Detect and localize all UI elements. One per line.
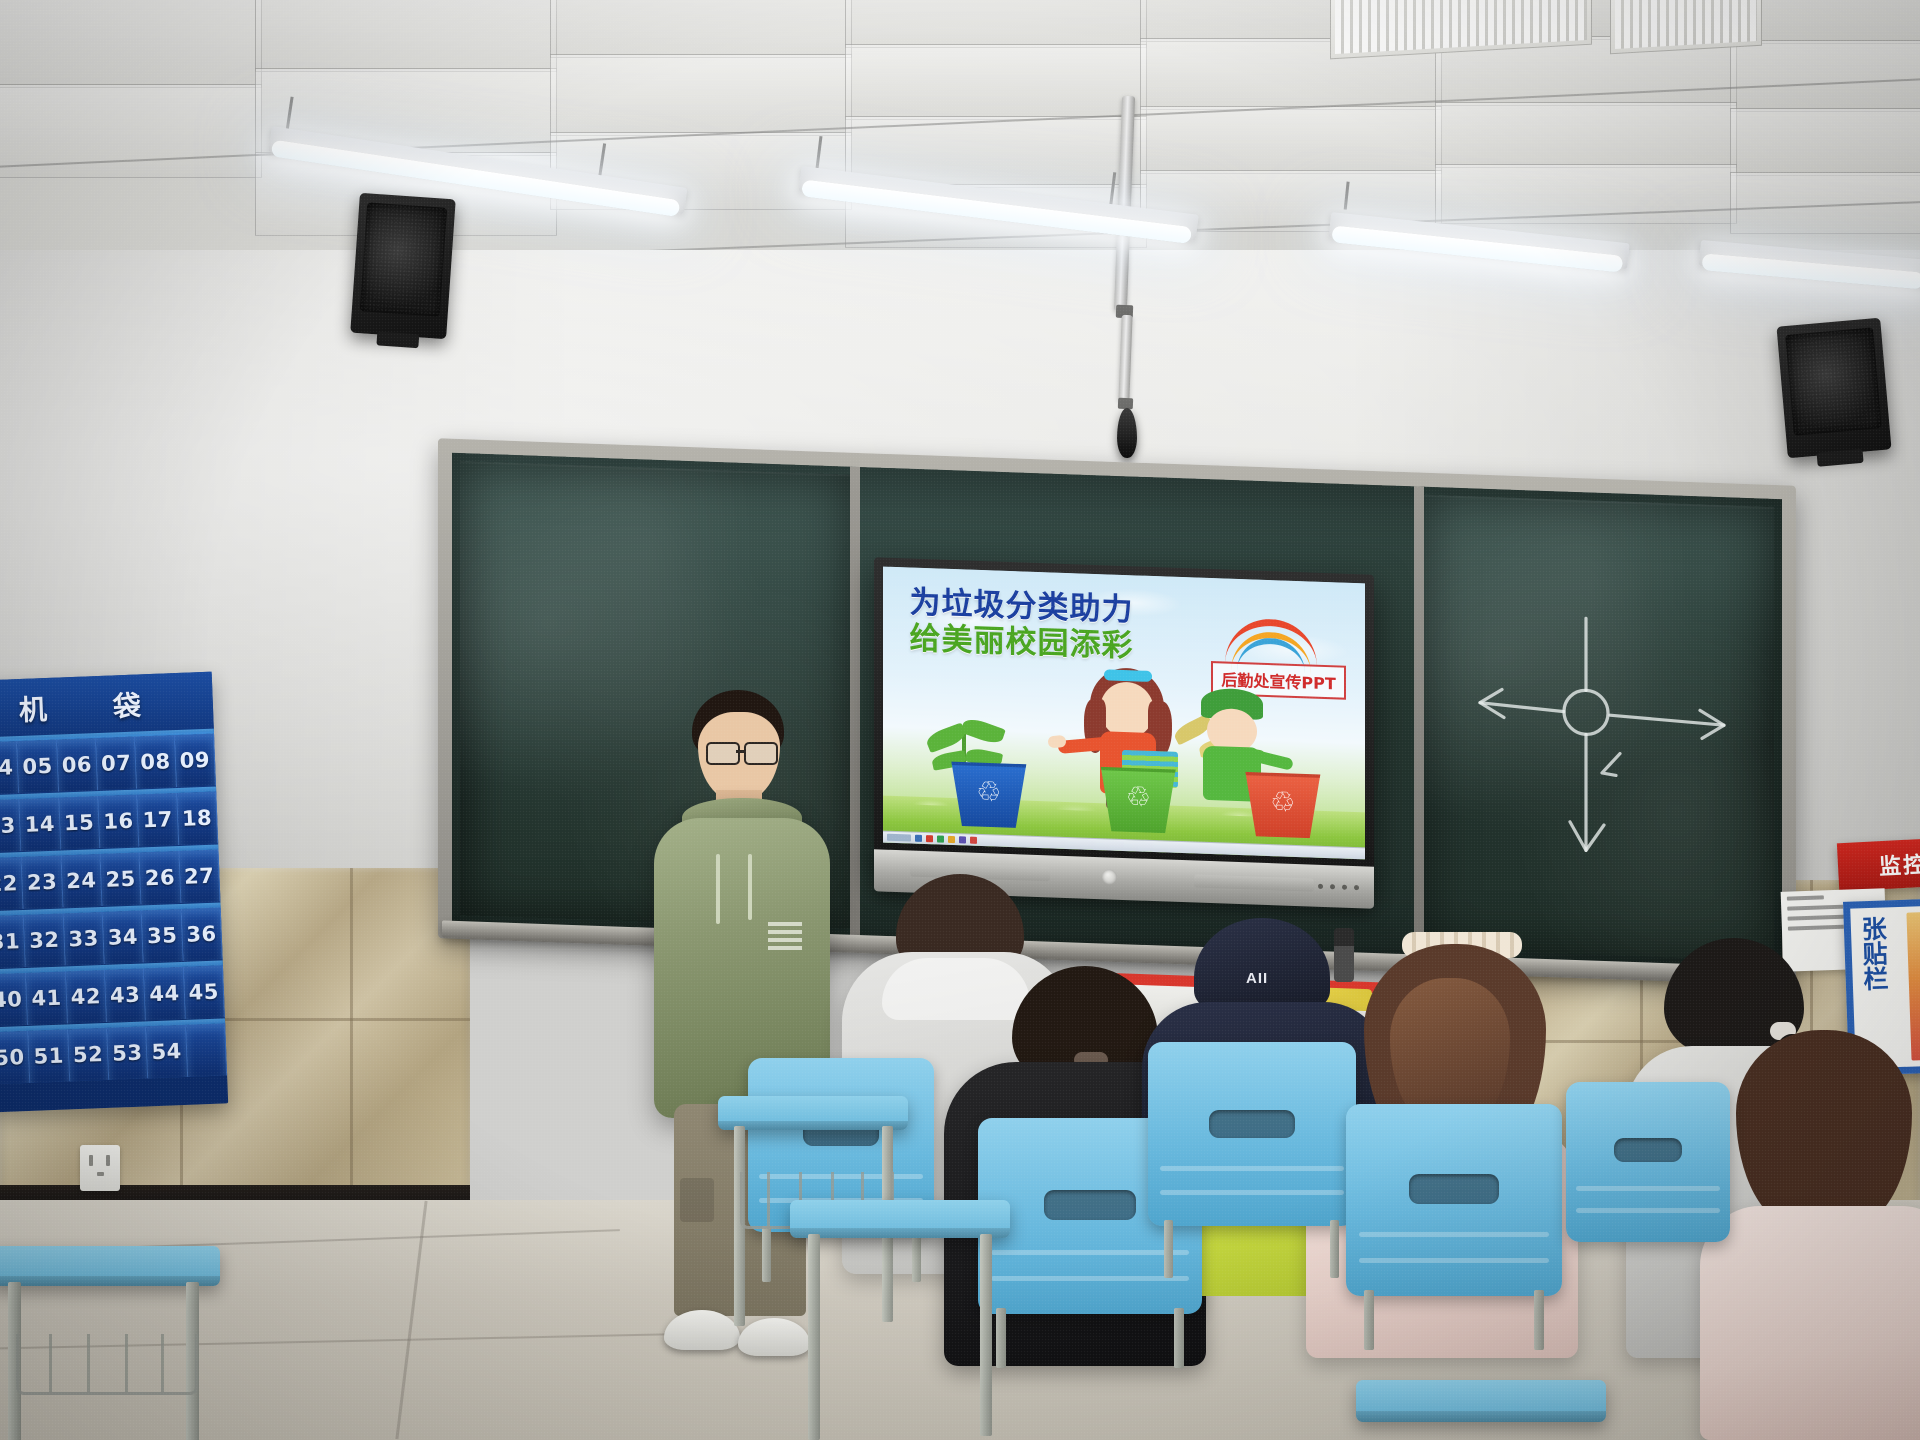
taskbar-icon-5[interactable] bbox=[959, 836, 966, 843]
phone-pocket[interactable]: 05 bbox=[17, 740, 58, 793]
phone-pocket[interactable]: 54 bbox=[147, 1025, 188, 1078]
desk-foreground-right[interactable] bbox=[1356, 1380, 1606, 1440]
pocket-number: 17 bbox=[142, 807, 173, 832]
surveillance-banner-text: 监控 bbox=[1878, 847, 1920, 881]
phone-pocket[interactable]: 52 bbox=[68, 1028, 109, 1081]
phone-pocket-chart: 机 袋 040506070809131415161718222324252627… bbox=[0, 672, 228, 1113]
pocket-number: 04 bbox=[0, 755, 14, 780]
phone-pocket[interactable]: 45 bbox=[184, 965, 225, 1018]
pocket-row: 131415161718 bbox=[0, 792, 218, 853]
desk-foreground-left[interactable] bbox=[0, 1246, 220, 1440]
pocket-number: 08 bbox=[140, 749, 171, 774]
pocket-number: 41 bbox=[31, 986, 62, 1011]
slide-content: 为垃圾分类助力 给美丽校园添彩 后勤处宣传PPT bbox=[883, 567, 1365, 860]
pocket-number: 13 bbox=[0, 813, 16, 838]
pocket-number: 25 bbox=[105, 867, 136, 892]
slide-title-line2: 给美丽校园添彩 bbox=[910, 621, 1134, 665]
pocket-number: 50 bbox=[0, 1045, 25, 1070]
phone-pocket[interactable]: 09 bbox=[175, 734, 216, 787]
pocket-number: 35 bbox=[147, 923, 178, 948]
phone-pocket[interactable]: 26 bbox=[140, 851, 181, 904]
phone-pocket[interactable]: 33 bbox=[63, 912, 104, 965]
recycle-symbol-blue: ♲ bbox=[976, 778, 1001, 807]
phone-pocket[interactable]: 43 bbox=[105, 968, 146, 1021]
phone-pocket[interactable]: 35 bbox=[142, 909, 183, 962]
pants-pocket bbox=[680, 1178, 714, 1222]
phone-pocket[interactable]: 32 bbox=[24, 913, 65, 966]
student-hair bbox=[1736, 1030, 1912, 1228]
pocket-number: 43 bbox=[110, 983, 141, 1008]
interactive-whiteboard[interactable]: 为垃圾分类助力 给美丽校园添彩 后勤处宣传PPT bbox=[874, 557, 1374, 886]
pocket-number: 26 bbox=[144, 865, 175, 890]
taskbar-start-button[interactable] bbox=[887, 834, 911, 842]
pocket-number: 23 bbox=[27, 870, 58, 895]
pocket-row: 040506070809 bbox=[0, 734, 216, 795]
recycle-symbol-red: ♲ bbox=[1270, 788, 1295, 817]
pocket-chart-header-left: 机 bbox=[18, 688, 48, 729]
taskbar-icon-4[interactable] bbox=[948, 836, 955, 843]
pocket-number: 05 bbox=[22, 754, 53, 779]
chalk-diagram bbox=[1424, 495, 1774, 961]
pocket-number: 45 bbox=[188, 980, 219, 1005]
ceiling-skylight-2 bbox=[1610, 0, 1762, 54]
phone-pocket[interactable]: 14 bbox=[20, 798, 61, 851]
chair-3[interactable] bbox=[1346, 1104, 1562, 1354]
phone-pocket[interactable]: 44 bbox=[144, 967, 185, 1020]
phone-pocket[interactable]: 50 bbox=[0, 1031, 31, 1084]
student-pink-jacket-right bbox=[1700, 1030, 1920, 1440]
phone-pocket[interactable]: 23 bbox=[22, 856, 63, 909]
phone-pocket[interactable]: 22 bbox=[0, 857, 24, 910]
wall-speaker-right bbox=[1776, 318, 1891, 459]
phone-pocket[interactable]: 08 bbox=[135, 735, 176, 788]
phone-pocket[interactable]: 15 bbox=[59, 796, 100, 849]
chair-5[interactable] bbox=[1566, 1082, 1730, 1292]
phone-pocket[interactable]: 51 bbox=[29, 1029, 70, 1082]
phone-pocket[interactable]: 16 bbox=[98, 795, 139, 848]
hoodie-drawstring-left bbox=[716, 854, 720, 924]
phone-pocket[interactable]: 06 bbox=[57, 738, 98, 791]
hoodie-logo bbox=[768, 922, 802, 950]
pocket-number: 31 bbox=[0, 929, 21, 954]
slide-title: 为垃圾分类助力 给美丽校园添彩 bbox=[910, 584, 1134, 665]
phone-pocket[interactable]: 34 bbox=[103, 910, 144, 963]
pocket-number: 40 bbox=[0, 987, 23, 1012]
pocket-number: 14 bbox=[24, 812, 55, 837]
pocket-number: 24 bbox=[66, 868, 97, 893]
taskbar-icon-1[interactable] bbox=[915, 835, 922, 842]
classroom-photo: 机 袋 040506070809131415161718222324252627… bbox=[0, 0, 1920, 1440]
surveillance-banner: 监控 bbox=[1837, 837, 1920, 892]
phone-pocket[interactable]: 53 bbox=[107, 1026, 148, 1079]
phone-pocket[interactable]: 40 bbox=[0, 973, 28, 1026]
phone-pocket[interactable]: 42 bbox=[66, 970, 107, 1023]
pocket-number: 53 bbox=[112, 1041, 143, 1066]
pocket-number: 44 bbox=[149, 981, 180, 1006]
power-button[interactable] bbox=[1102, 869, 1117, 885]
pocket-number: 18 bbox=[181, 806, 212, 831]
phone-pocket[interactable]: 17 bbox=[138, 793, 179, 846]
pocket-number: 51 bbox=[33, 1044, 64, 1069]
slide-display[interactable]: 为垃圾分类助力 给美丽校园添彩 后勤处宣传PPT bbox=[883, 567, 1365, 860]
student-jacket bbox=[1700, 1206, 1920, 1440]
pocket-number: 06 bbox=[61, 752, 92, 777]
wall-speaker-left bbox=[350, 193, 456, 339]
pocket-row: 5051525354 bbox=[0, 1023, 227, 1084]
pocket-row: 222324252627 bbox=[0, 849, 220, 910]
pocket-number: 15 bbox=[64, 810, 95, 835]
phone-pocket[interactable]: 27 bbox=[179, 849, 220, 902]
taskbar-icon-3[interactable] bbox=[937, 835, 944, 842]
phone-pocket[interactable]: 31 bbox=[0, 915, 26, 968]
pocket-number: 52 bbox=[72, 1042, 103, 1067]
pocket-number: 36 bbox=[186, 922, 217, 947]
phone-pocket[interactable]: 04 bbox=[0, 741, 19, 794]
pocket-number: 32 bbox=[29, 928, 60, 953]
phone-pocket[interactable]: 25 bbox=[101, 853, 142, 906]
phone-pocket[interactable] bbox=[186, 1023, 227, 1076]
desk-front-center[interactable] bbox=[790, 1200, 1010, 1440]
phone-pocket[interactable]: 41 bbox=[26, 971, 67, 1024]
pocket-row: 404142434445 bbox=[0, 965, 225, 1026]
phone-pocket[interactable]: 18 bbox=[177, 792, 218, 845]
pocket-number: 54 bbox=[151, 1039, 182, 1064]
pocket-number: 09 bbox=[179, 748, 210, 773]
power-outlet[interactable] bbox=[80, 1145, 120, 1191]
pocket-number: 34 bbox=[107, 925, 138, 950]
phone-pocket[interactable]: 36 bbox=[181, 907, 222, 960]
cap-logo: AII bbox=[1246, 970, 1268, 987]
chair-2[interactable] bbox=[1148, 1042, 1356, 1282]
taskbar-icon-2[interactable] bbox=[926, 835, 933, 842]
phone-pocket[interactable]: 13 bbox=[0, 799, 22, 852]
pocket-number: 16 bbox=[103, 809, 134, 834]
pocket-number: 22 bbox=[0, 871, 18, 896]
taskbar-icon-6[interactable] bbox=[970, 837, 977, 844]
pocket-chart-header-right: 袋 bbox=[112, 684, 142, 725]
presenter-glasses bbox=[706, 742, 776, 761]
pocket-number: 33 bbox=[68, 926, 99, 951]
pocket-number: 07 bbox=[101, 751, 132, 776]
recycle-symbol-green: ♲ bbox=[1126, 783, 1151, 812]
pocket-number: 27 bbox=[184, 864, 215, 889]
hoodie-drawstring-right bbox=[748, 854, 752, 920]
blackboard-panel-right bbox=[1424, 495, 1774, 961]
phone-pocket[interactable]: 07 bbox=[96, 737, 137, 790]
pocket-number: 42 bbox=[70, 984, 101, 1009]
phone-pocket[interactable]: 24 bbox=[61, 854, 102, 907]
pocket-row: 313233343536 bbox=[0, 907, 223, 968]
